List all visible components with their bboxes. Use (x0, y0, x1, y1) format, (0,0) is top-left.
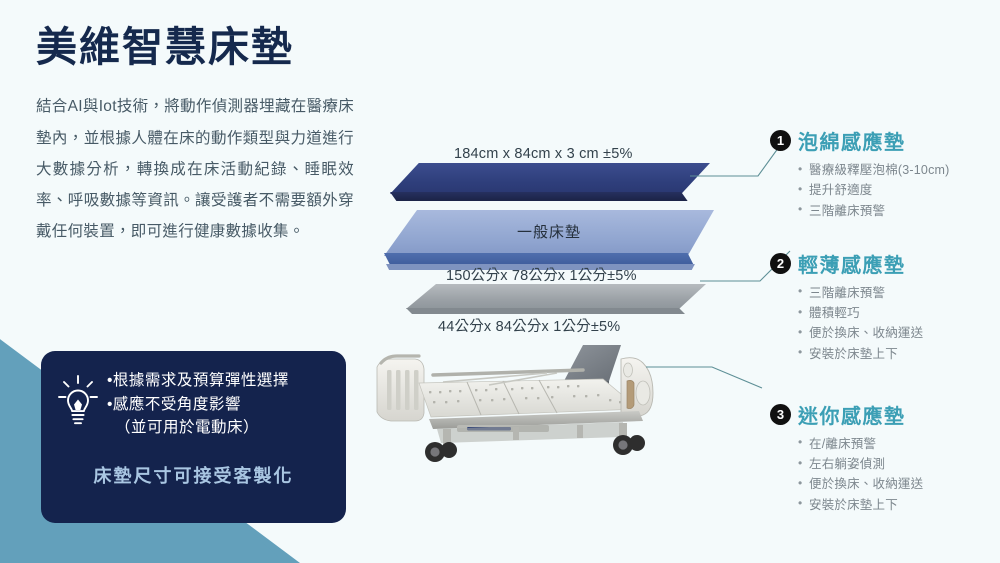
left-text-column: 美維智慧床墊 結合AI與Iot技術，將動作偵測器埋藏在醫療床墊內，並根據人體在床… (36, 22, 366, 248)
feature-1-number-badge: 1 (770, 130, 791, 151)
feature-3-number-badge: 3 (770, 404, 791, 425)
dimension-label-foam: 184cm x 84cm x 3 cm ±5% (454, 146, 633, 162)
feature-3-header: 3 迷你感應墊 (770, 400, 996, 429)
list-item: 便於換床、收納運送 (798, 323, 996, 343)
list-item: 安裝於床墊上下 (798, 344, 996, 364)
feature-1-list: 醫療級釋壓泡棉(3-10cm) 提升舒適度 三階離床預警 (798, 160, 996, 221)
lightbulb-icon (55, 371, 101, 429)
layer-standard-mattress: 一般床墊 (384, 210, 714, 270)
feature-item-1: 1 泡綿感應墊 醫療級釋壓泡棉(3-10cm) 提升舒適度 三階離床預警 (770, 126, 996, 221)
list-item: 安裝於床墊上下 (798, 495, 996, 515)
note-bullet-1: •根據需求及預算彈性選擇 (107, 369, 332, 393)
intro-paragraph: 結合AI與Iot技術，將動作偵測器埋藏在醫療床墊內，並根據人體在床的動作類型與力… (36, 91, 354, 247)
list-item: 在/離床預警 (798, 434, 996, 454)
feature-3-list: 在/離床預警 左右躺姿偵測 便於換床、收納運送 安裝於床墊上下 (798, 434, 996, 515)
list-item: 提升舒適度 (798, 180, 996, 200)
feature-2-list: 三階離床預警 體積輕巧 便於換床、收納運送 安裝於床墊上下 (798, 283, 996, 364)
note-card-highlight: 床墊尺寸可接受客製化 (55, 462, 332, 488)
layer-thin-sensing-pad (406, 284, 706, 314)
mattress-caption: 一般床墊 (384, 221, 714, 242)
feature-2-number-badge: 2 (770, 253, 791, 274)
dimension-label-thin: 44公分x 84公分x 1公分±5% (438, 315, 620, 336)
list-item: 左右躺姿偵測 (798, 454, 996, 474)
hospital-bed-illustration (371, 337, 701, 492)
list-item: 三階離床預警 (798, 283, 996, 303)
features-column: 1 泡綿感應墊 醫療級釋壓泡棉(3-10cm) 提升舒適度 三階離床預警 2 輕… (770, 126, 996, 531)
dimension-label-mattress: 150公分x 78公分x 1公分±5% (446, 264, 637, 285)
feature-2-title: 輕薄感應墊 (798, 249, 906, 278)
feature-1-title: 泡綿感應墊 (798, 126, 906, 155)
note-bullet-2: •感應不受角度影響 (107, 393, 332, 417)
note-card-top: •根據需求及預算彈性選擇 •感應不受角度影響 （並可用於電動床） (55, 367, 332, 440)
list-item: 體積輕巧 (798, 303, 996, 323)
feature-item-3: 3 迷你感應墊 在/離床預警 左右躺姿偵測 便於換床、收納運送 安裝於床墊上下 (770, 400, 996, 515)
layer-foam-sensing-pad (390, 163, 710, 201)
list-item: 醫療級釋壓泡棉(3-10cm) (798, 160, 996, 180)
page-title: 美維智慧床墊 (36, 22, 366, 73)
list-item: 三階離床預警 (798, 201, 996, 221)
list-item: 便於換床、收納運送 (798, 474, 996, 494)
note-card: •根據需求及預算彈性選擇 •感應不受角度影響 （並可用於電動床） 床墊尺寸可接受… (41, 351, 346, 523)
feature-2-header: 2 輕薄感應墊 (770, 249, 996, 278)
feature-3-title: 迷你感應墊 (798, 400, 906, 429)
note-card-bullets: •根據需求及預算彈性選擇 •感應不受角度影響 （並可用於電動床） (107, 367, 332, 440)
feature-1-header: 1 泡綿感應墊 (770, 126, 996, 155)
note-bullet-3: （並可用於電動床） (107, 416, 332, 440)
exploded-diagram: 184cm x 84cm x 3 cm ±5% 一般床墊 150公分x 78公分… (372, 132, 772, 502)
feature-item-2: 2 輕薄感應墊 三階離床預警 體積輕巧 便於換床、收納運送 安裝於床墊上下 (770, 249, 996, 364)
